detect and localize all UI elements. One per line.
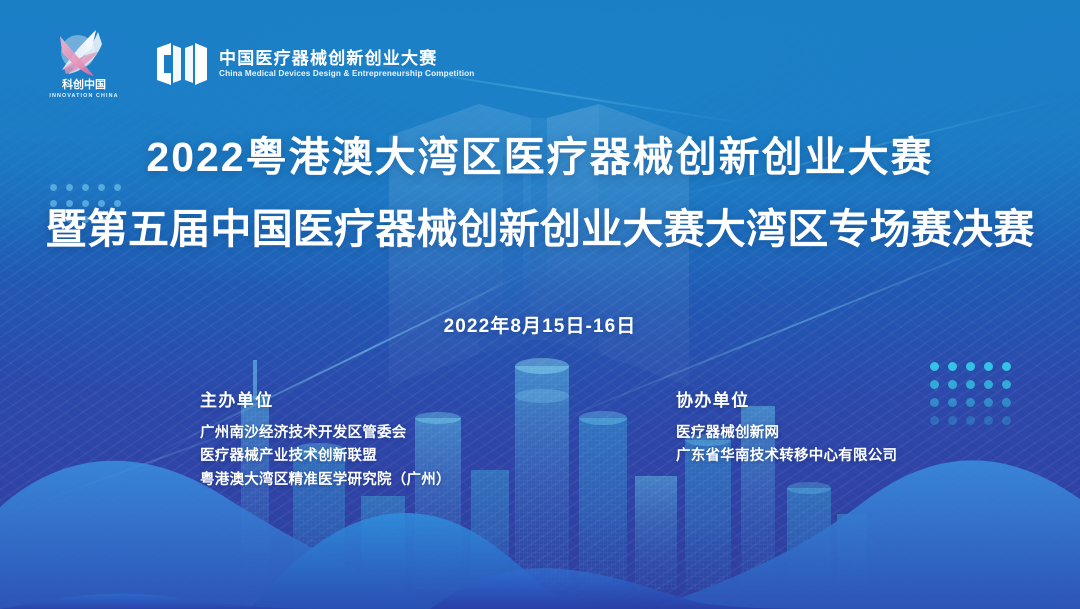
co-organizer-heading: 协办单位 — [676, 386, 897, 411]
host-organizer-item: 广州南沙经济技术开发区管委会 — [200, 422, 451, 445]
organizers-section: 主办单位 广州南沙经济技术开发区管委会 医疗器械产业技术创新联盟 粤港澳大湾区精… — [0, 386, 1080, 516]
logo-bar: 科创中国 INNOVATION CHINA 中国医疗器械创新创业大赛 China… — [38, 26, 474, 102]
innovation-china-logo: 科创中国 INNOVATION CHINA — [38, 26, 130, 102]
innovation-china-cn-label: 科创中国 — [62, 77, 106, 91]
co-organizer-item: 广东省华南技术转移中心有限公司 — [676, 445, 897, 468]
event-poster: 科创中国 INNOVATION CHINA 中国医疗器械创新创业大赛 China… — [0, 0, 1080, 609]
competition-logo-cn: 中国医疗器械创新创业大赛 — [219, 50, 474, 68]
open-door-icon — [156, 41, 208, 87]
competition-logo-en: China Medical Devices Design & Entrepren… — [219, 70, 474, 79]
host-organizer-item: 医疗器械产业技术创新联盟 — [200, 445, 451, 468]
co-organizer-block: 协办单位 医疗器械创新网 广东省华南技术转移中心有限公司 — [676, 386, 897, 469]
innovation-china-en-label: INNOVATION CHINA — [49, 93, 118, 99]
host-organizer-block: 主办单位 广州南沙经济技术开发区管委会 医疗器械产业技术创新联盟 粤港澳大湾区精… — [200, 386, 451, 492]
host-organizer-heading: 主办单位 — [200, 386, 451, 411]
page-title-line-2: 暨第五届中国医疗器械创新创业大赛大湾区专场赛决赛 — [0, 205, 1080, 254]
page-title-line-1: 2022粤港澳大湾区医疗器械创新创业大赛 — [0, 133, 1080, 182]
host-organizer-item: 粤港澳大湾区精准医学研究院（广州） — [200, 469, 451, 492]
co-organizer-item: 医疗器械创新网 — [676, 422, 897, 445]
event-date: 2022年8月15日-16日 — [0, 311, 1080, 338]
competition-logo: 中国医疗器械创新创业大赛 China Medical Devices Desig… — [156, 41, 474, 87]
